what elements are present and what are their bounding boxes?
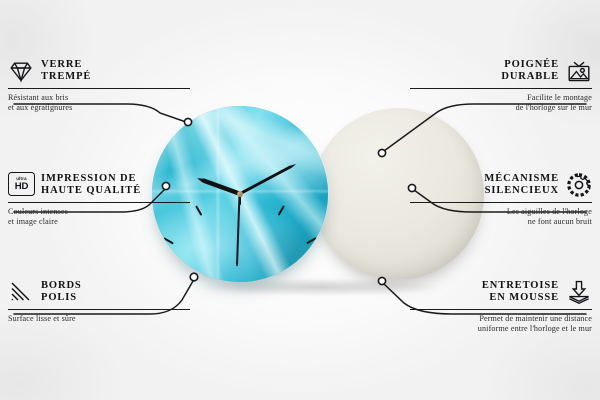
callout-header: Bords polis <box>8 279 190 305</box>
callout-header: Verre trempé <box>8 58 190 84</box>
callout-divider <box>410 309 592 310</box>
ultra-hd-badge-icon: ultra HD <box>8 172 34 198</box>
callout-header: Entretoise en mousse <box>410 279 592 305</box>
framed-picture-hanging-icon <box>566 58 592 84</box>
callout-title: Impression de haute qualité <box>41 173 141 198</box>
foam-spacer-arrow-icon <box>566 279 592 305</box>
callout-divider <box>8 309 190 310</box>
callout-divider <box>8 202 190 203</box>
callout-poignee-durable: Poignée durable Facilite le montage de l… <box>410 58 592 114</box>
callout-subtitle: Permet de maintenir une distance uniform… <box>410 314 592 335</box>
callout-subtitle: Couleurs intenses et image claire <box>8 207 190 228</box>
callout-title: Bords polis <box>41 280 82 305</box>
infographic-canvas: Verre trempé Résistant aux bris et aux é… <box>0 0 600 400</box>
polished-edge-lines-icon <box>8 279 34 305</box>
callout-header: ultra HD Impression de haute qualité <box>8 172 190 198</box>
callout-impression-haute-qualite: ultra HD Impression de haute qualité Cou… <box>8 172 190 228</box>
callout-title: Verre trempé <box>41 59 91 84</box>
callout-subtitle: Surface lisse et sûre <box>8 314 190 324</box>
callout-title: Entretoise en mousse <box>482 280 559 305</box>
callout-header: Mécanisme silencieux <box>410 172 592 198</box>
ultra-hd-main-text: HD <box>15 182 28 192</box>
callout-mecanisme-silencieux: Mécanisme silencieux Les aiguilles de l'… <box>410 172 592 228</box>
callout-divider <box>8 88 190 89</box>
diamond-icon <box>8 58 34 84</box>
callout-divider <box>410 202 592 203</box>
callout-subtitle: Résistant aux bris et aux égratignures <box>8 93 190 114</box>
callout-entretoise-en-mousse: Entretoise en mousse Permet de maintenir… <box>410 279 592 335</box>
callout-subtitle: Facilite le montage de l'horloge sur le … <box>410 93 592 114</box>
callout-subtitle: Les aiguilles de l'horloge ne font aucun… <box>410 207 592 228</box>
gear-icon <box>566 172 592 198</box>
callout-verre-trempe: Verre trempé Résistant aux bris et aux é… <box>8 58 190 114</box>
callout-header: Poignée durable <box>410 58 592 84</box>
callout-divider <box>410 88 592 89</box>
hands-center-cap <box>237 191 243 197</box>
callout-title: Poignée durable <box>501 59 559 84</box>
callout-bords-polis: Bords polis Surface lisse et sûre <box>8 279 190 324</box>
callout-title: Mécanisme silencieux <box>484 173 559 198</box>
hour-mark <box>317 281 328 282</box>
